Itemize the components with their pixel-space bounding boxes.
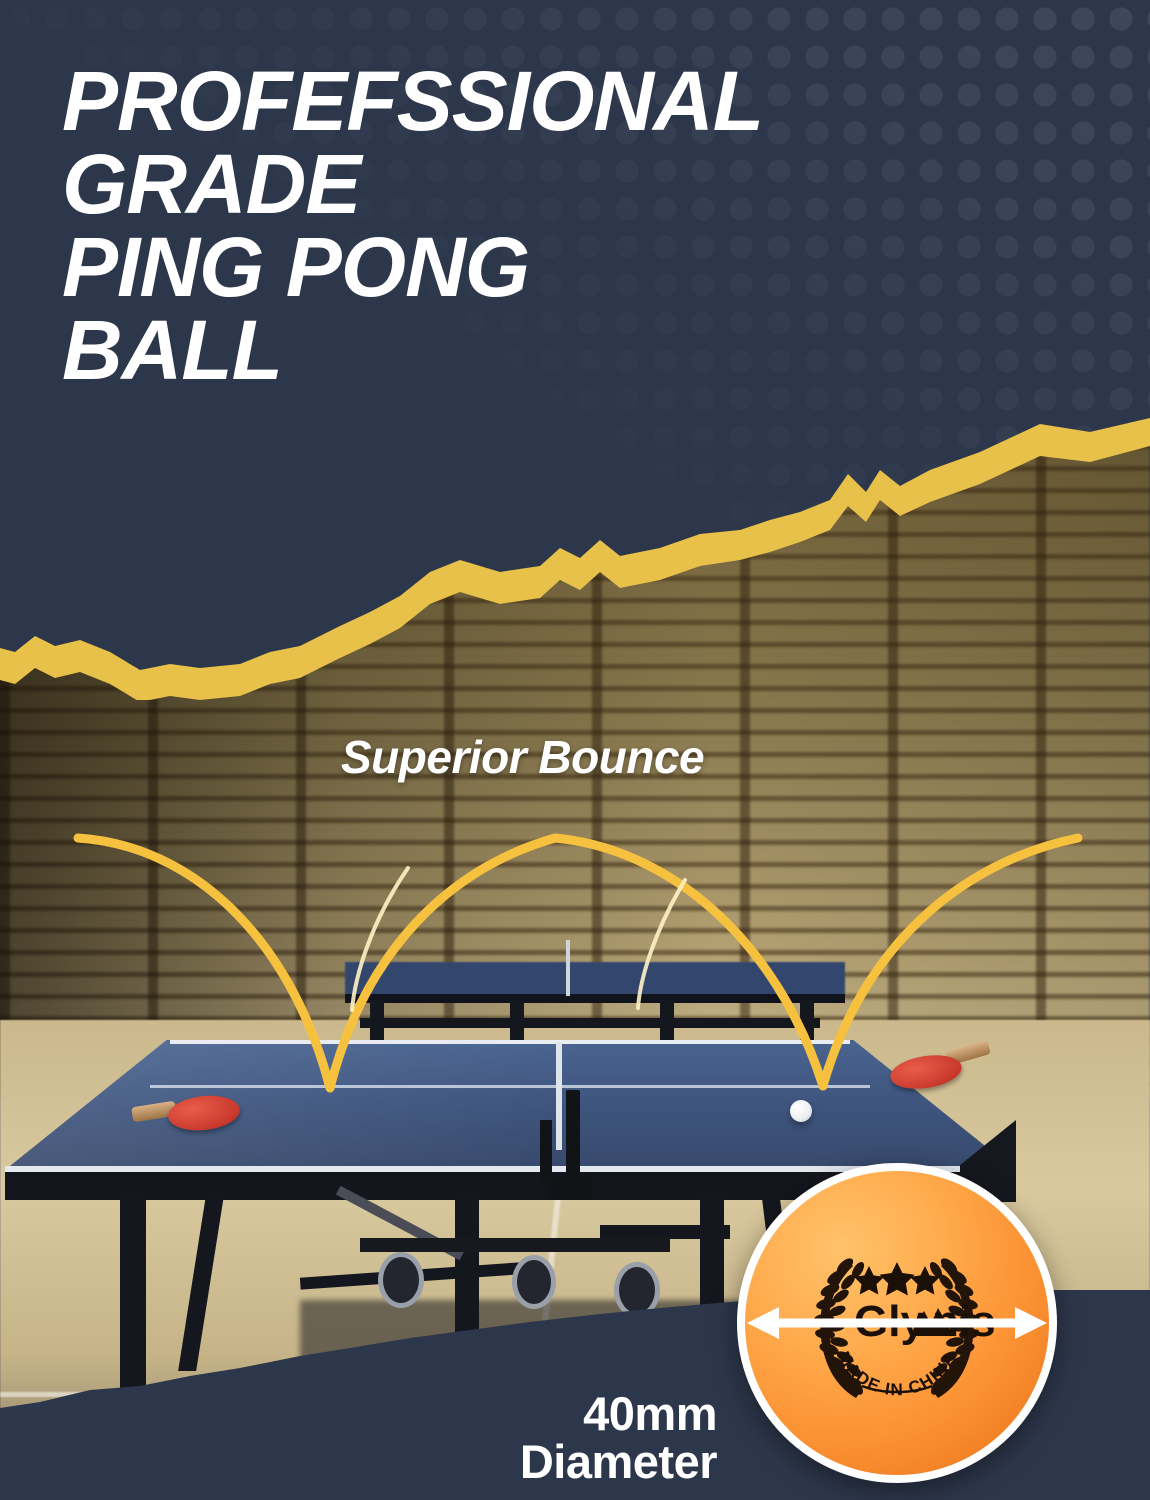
table-net <box>556 1042 562 1150</box>
diameter-value: 40mm <box>447 1390 717 1438</box>
table-caster-wheel <box>378 1252 424 1308</box>
white-ping-pong-ball <box>790 1100 812 1122</box>
net-post <box>540 1120 552 1182</box>
caster-axle <box>360 1238 670 1252</box>
three-star-rating-icon <box>854 1262 940 1296</box>
diameter-caption: 40mm Diameter <box>447 1390 717 1486</box>
background-table-edge <box>345 994 845 1003</box>
product-poster: PROFEFSSIONAL GRADE PING PONG BALL Super… <box>0 0 1150 1500</box>
background-table-net <box>566 940 570 996</box>
headline-line-4: BALL <box>62 309 1122 392</box>
headline-line-3: PING PONG <box>62 226 1122 309</box>
orange-ball-callout: Gly nis MADE IN CHINA <box>737 1163 1057 1483</box>
table-center-line <box>150 1085 870 1088</box>
headline-line-2: GRADE <box>62 143 1122 226</box>
double-headed-arrow-icon <box>745 1303 1049 1343</box>
background-table-rail <box>360 1018 820 1028</box>
net-post <box>566 1090 580 1190</box>
table-caster-wheel <box>512 1255 556 1309</box>
tagline-superior-bounce: Superior Bounce <box>341 730 704 784</box>
background-table-surface <box>345 962 845 996</box>
table-white-border-far <box>170 1040 850 1044</box>
table-frame-rail <box>600 1225 730 1239</box>
headline-line-1: PROFEFSSIONAL <box>62 60 1122 143</box>
page-title: PROFEFSSIONAL GRADE PING PONG BALL <box>62 60 1122 393</box>
diameter-label: Diameter <box>447 1438 717 1486</box>
net-clamp <box>548 1176 592 1200</box>
